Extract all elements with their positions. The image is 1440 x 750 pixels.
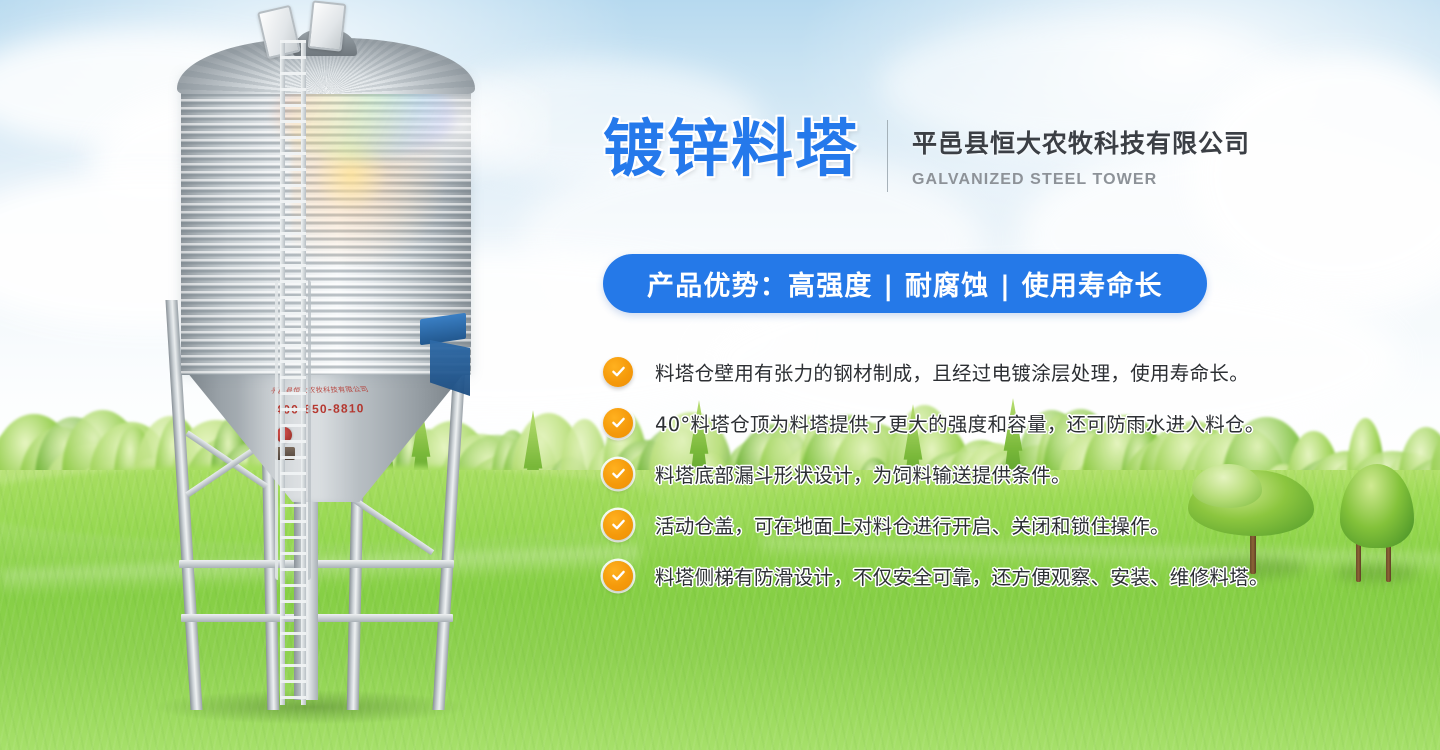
galvanized-feed-silo-image: 平邑县恒大农牧科技有限公司 400-850-8810 [95,0,525,750]
ladder-safety-cage [275,280,311,580]
check-icon [603,561,633,591]
check-icon [603,510,633,540]
silo-brace [351,497,434,556]
silo-side-ladder [278,40,308,705]
feature-text: 40°料塔仓顶为料塔提供了更大的强度和容量，还可防雨水进入料仓。 [655,408,1265,437]
check-icon [603,408,633,438]
tree-canopy [1340,464,1414,548]
feature-text: 料塔仓壁用有张力的钢材制成，且经过电镀涂层处理，使用寿命长。 [655,357,1249,386]
product-advantages-text: 产品优势：高强度 | 耐腐蚀 | 使用寿命长 [647,264,1163,303]
company-name-cn: 平邑县恒大农牧科技有限公司 [912,124,1250,160]
feature-text: 活动仓盖，可在地面上对料仓进行开启、关闭和锁住操作。 [655,510,1170,539]
feature-item: 活动仓盖，可在地面上对料仓进行开启、关闭和锁住操作。 [603,499,1303,550]
feature-item: 40°料塔仓顶为料塔提供了更大的强度和容量，还可防雨水进入料仓。 [603,397,1303,448]
page-title: 镀锌料塔 [603,118,859,180]
foreground-tree [1326,470,1426,588]
feature-item: 料塔底部漏斗形状设计，为饲料输送提供条件。 [603,448,1303,499]
silo-printed-logo: 平邑县恒大农牧科技有限公司 400-850-8810 [245,384,396,439]
brand-block: 平邑县恒大农牧科技有限公司 GALVANIZED STEEL TOWER [912,118,1250,189]
feature-item: 料塔侧梯有防滑设计，不仅安全可靠，还方便观察、安装、维修料塔。 [603,550,1303,601]
silo-lid-hatch [308,0,347,51]
feature-list: 料塔仓壁用有张力的钢材制成，且经过电镀涂层处理，使用寿命长。40°料塔仓顶为料塔… [603,346,1303,601]
feature-text: 料塔侧梯有防滑设计，不仅安全可靠，还方便观察、安装、维修料塔。 [655,561,1269,590]
product-advantages-banner: 产品优势：高强度 | 耐腐蚀 | 使用寿命长 [603,254,1207,313]
company-name-en: GALVANIZED STEEL TOWER [912,171,1250,189]
tree-shadow [1334,564,1418,582]
feature-text: 料塔底部漏斗形状设计，为饲料输送提供条件。 [655,459,1071,488]
title-divider [887,120,888,192]
feature-item: 料塔仓壁用有张力的钢材制成，且经过电镀涂层处理，使用寿命长。 [603,346,1303,397]
check-icon [603,459,633,489]
title-row: 镀锌料塔 平邑县恒大农牧科技有限公司 GALVANIZED STEEL TOWE… [603,118,1250,192]
hero-content: 镀锌料塔 平邑县恒大农牧科技有限公司 GALVANIZED STEEL TOWE… [603,0,1303,750]
check-icon [603,357,633,387]
